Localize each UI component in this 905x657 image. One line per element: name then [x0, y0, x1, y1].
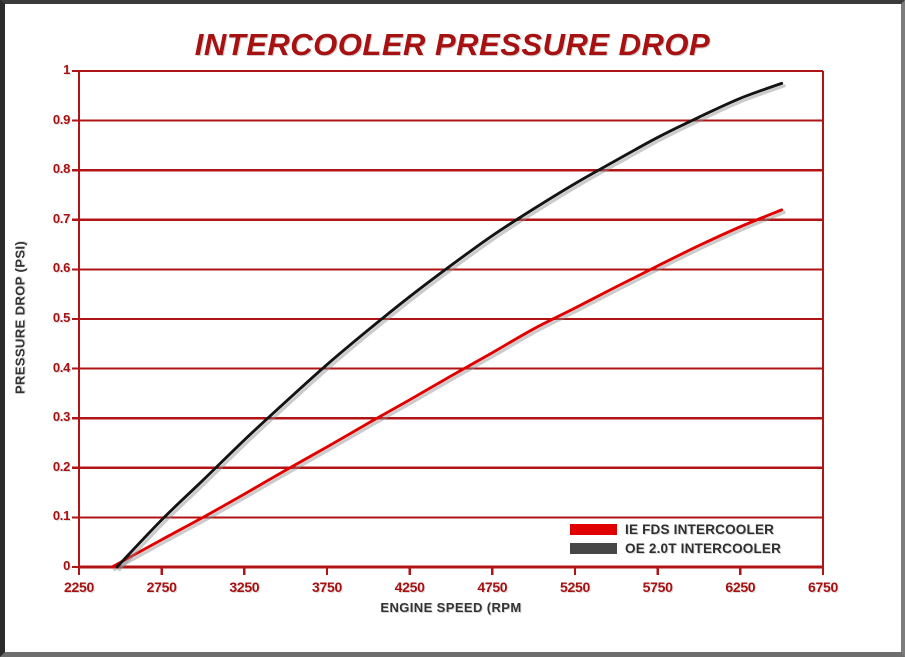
chart-canvas: INTERCOOLER PRESSURE DROP PRESSURE DROP …	[0, 0, 905, 657]
legend-swatch-oe	[570, 543, 617, 554]
series-line-ie-fds	[112, 210, 782, 567]
legend-item-ie[interactable]: IE FDS INTERCOOLER	[570, 520, 781, 539]
series-line-oe-2-0t	[117, 83, 782, 567]
legend: IE FDS INTERCOOLER OE 2.0T INTERCOOLER	[566, 518, 785, 560]
legend-label-ie: IE FDS INTERCOOLER	[625, 522, 774, 537]
legend-item-oe[interactable]: OE 2.0T INTERCOOLER	[570, 539, 781, 558]
legend-swatch-ie	[570, 524, 617, 535]
chart-screenshot: INTERCOOLER PRESSURE DROP PRESSURE DROP …	[0, 0, 905, 657]
legend-label-oe: OE 2.0T INTERCOOLER	[625, 541, 781, 556]
series-shadow	[120, 86, 785, 570]
data-series-group	[112, 83, 784, 569]
